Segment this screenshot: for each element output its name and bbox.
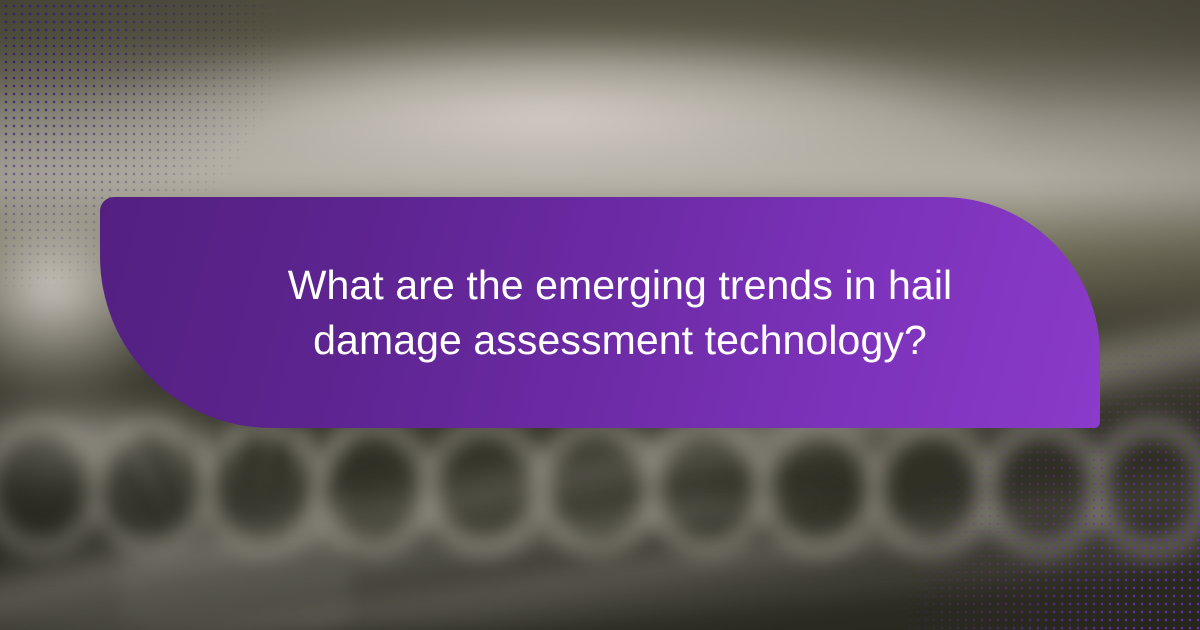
- question-text: What are the emerging trends in hail dam…: [270, 258, 970, 368]
- question-card: What are the emerging trends in hail dam…: [100, 197, 1100, 428]
- share-card-canvas: What are the emerging trends in hail dam…: [0, 0, 1200, 630]
